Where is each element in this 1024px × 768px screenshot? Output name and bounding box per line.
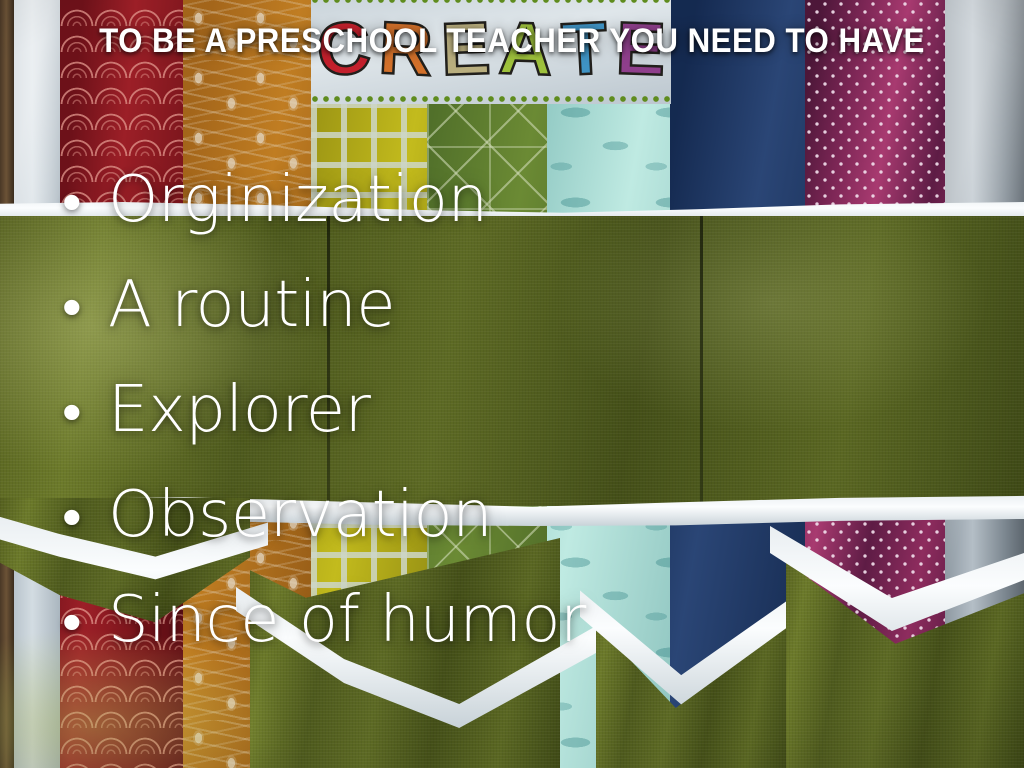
bullet-label-organization: Orginization [108,168,488,232]
bullet-label-explorer: Explorer [108,378,370,442]
banner-stitch-bottom [311,95,671,104]
list-item: • Since of humor [62,588,962,693]
list-item: • A routine [62,273,962,378]
bullet-label-observation: Observation [108,483,492,547]
bullet-label-humor: Since of humor [108,588,586,652]
slide: C R E A T E [0,0,1024,768]
slide-title: TO BE A PRESCHOOL TEACHER YOU NEED TO HA… [41,22,983,61]
bullet-label-routine: A routine [108,273,395,337]
list-item: • Orginization [62,168,962,273]
bullet-list: • Orginization • A routine • Explorer • … [62,168,962,693]
list-item: • Explorer [62,378,962,483]
banner-stitch-top [311,0,671,5]
list-item: • Observation [62,483,962,588]
